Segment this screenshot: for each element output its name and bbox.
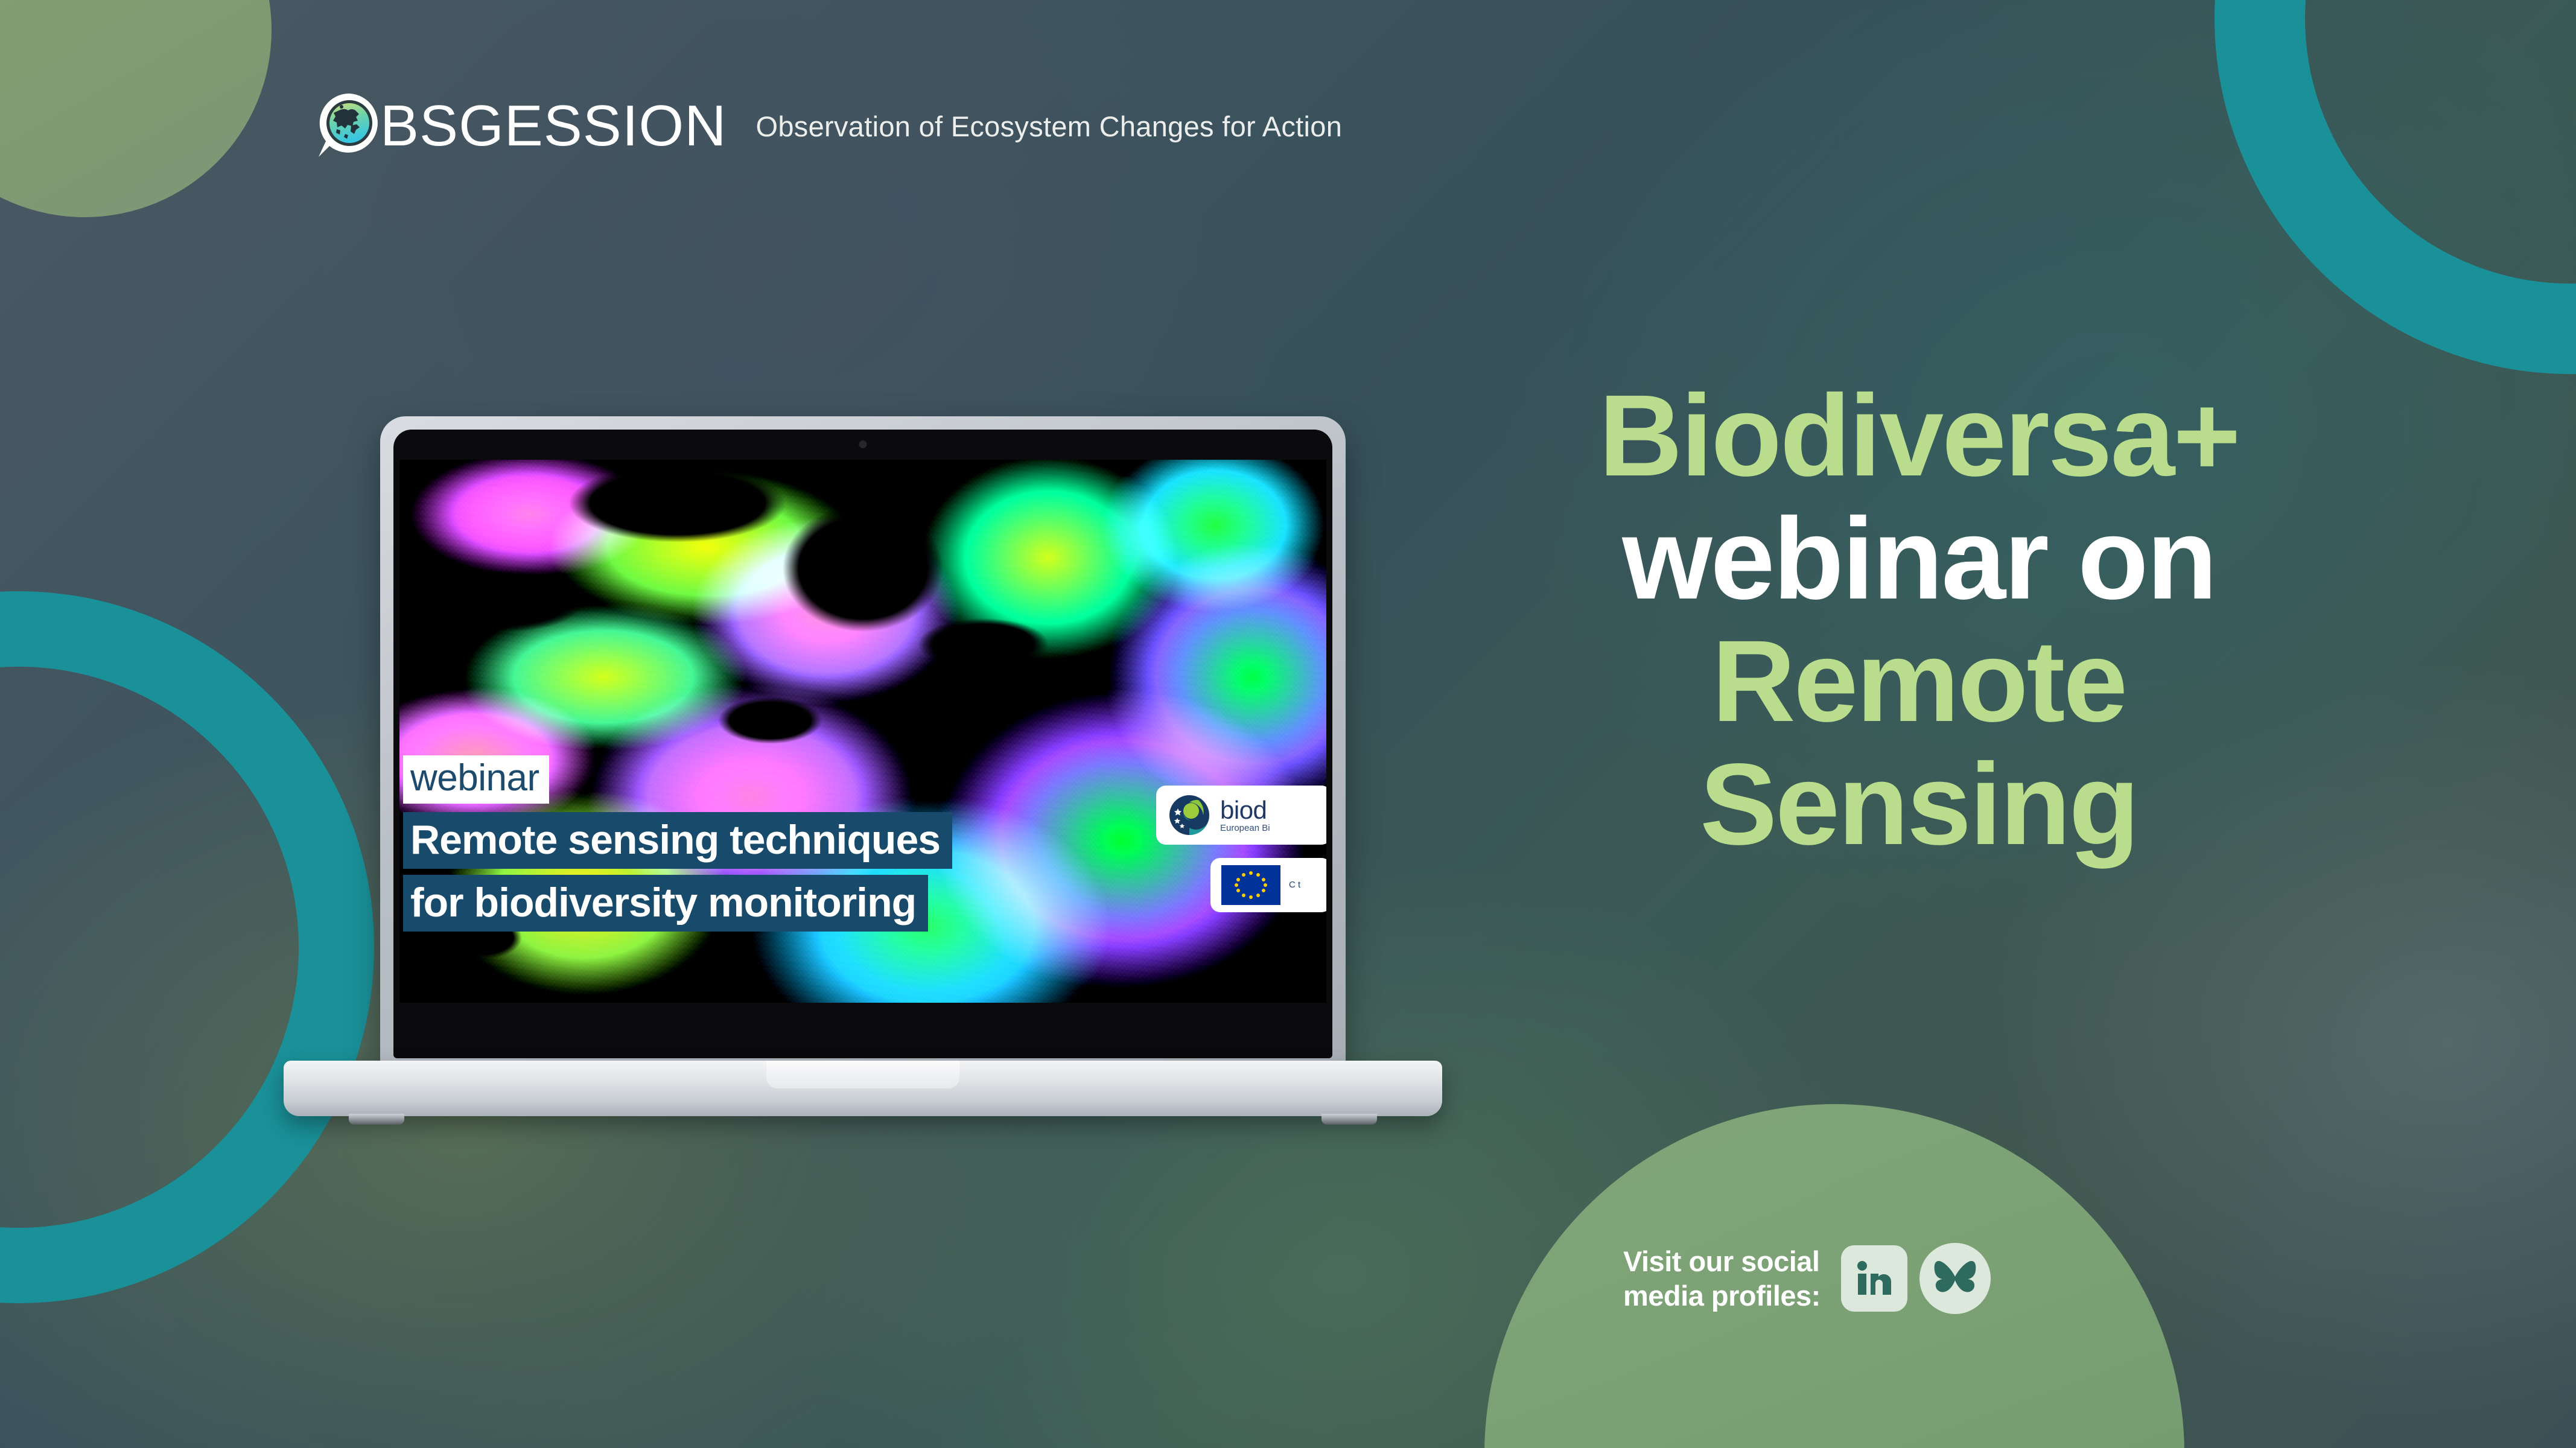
headline-line-2: webinar on (1406, 497, 2432, 620)
headline-line-1: Biodiversa+ (1406, 374, 2432, 497)
eu-flag-icon (1221, 865, 1280, 905)
headline-block: Biodiversa+ webinar on Remote Sensing (1406, 374, 2432, 865)
laptop-base-slab (284, 1061, 1442, 1116)
laptop-base (284, 1061, 1442, 1132)
eu-funding-card: C t (1210, 858, 1326, 912)
poster-canvas: BSGESSION Observation of Ecosystem Chang… (0, 0, 2576, 1448)
social-icon-list (1841, 1243, 1991, 1314)
screen-title-block: webinar Remote sensing techniques for bi… (403, 755, 952, 932)
eu-funding-text: C t (1289, 880, 1300, 890)
decorative-ring-top-right (2215, 0, 2576, 374)
laptop-bezel: webinar Remote sensing techniques for bi… (393, 430, 1332, 1058)
biodiversa-subtitle: European Bi (1220, 824, 1270, 833)
laptop-foot-left (349, 1114, 404, 1125)
brand-wordmark: BSGESSION (380, 97, 727, 155)
biodiversa-name: biod (1220, 797, 1270, 824)
brand-tagline: Observation of Ecosystem Changes for Act… (756, 110, 1343, 143)
social-label-line-2: media profiles: (1623, 1278, 1821, 1313)
screen-title-line-2: for biodiversity monitoring (403, 875, 928, 932)
linkedin-icon[interactable] (1841, 1245, 1907, 1312)
bluesky-butterfly-icon[interactable] (1919, 1243, 1991, 1314)
social-label: Visit our social media profiles: (1623, 1244, 1821, 1313)
webinar-badge: webinar (403, 755, 549, 803)
biodiversa-logo-card: biod European Bi (1156, 786, 1326, 845)
laptop-mockup: webinar Remote sensing techniques for bi… (284, 416, 1442, 1116)
decorative-circle-top-left (0, 0, 272, 217)
social-label-line-1: Visit our social (1623, 1244, 1821, 1278)
globe-speech-bubble-icon (314, 91, 385, 162)
social-media-block: Visit our social media profiles: (1623, 1243, 1991, 1314)
biodiversa-swirl-icon (1167, 793, 1212, 837)
headline-line-3: Remote (1406, 620, 2432, 743)
webcam-icon (859, 440, 867, 448)
laptop-screen: webinar Remote sensing techniques for bi… (399, 460, 1326, 1003)
laptop-lid: webinar Remote sensing techniques for bi… (380, 416, 1346, 1074)
laptop-base-lip (766, 1061, 959, 1088)
laptop-foot-right (1321, 1114, 1377, 1125)
screen-partner-logos: biod European Bi (1156, 786, 1326, 912)
screen-title-line-1: Remote sensing techniques (403, 812, 952, 869)
headline-line-4: Sensing (1406, 743, 2432, 866)
brand-header: BSGESSION Observation of Ecosystem Chang… (314, 91, 1342, 162)
